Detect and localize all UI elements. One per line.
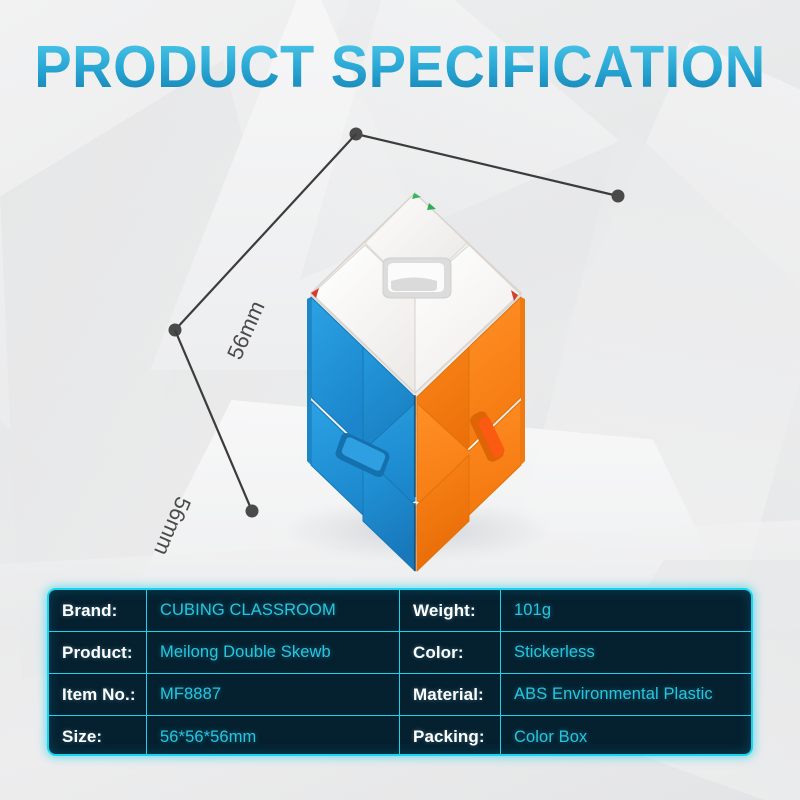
spec-label-product: Product: — [49, 632, 147, 673]
spec-value-material: ABS Environmental Plastic — [501, 674, 751, 715]
spec-value-size: 56*56*56mm — [147, 716, 400, 756]
spec-value-color: Stickerless — [501, 632, 751, 673]
spec-value-packing: Color Box — [501, 716, 751, 756]
spec-value-weight: 101g — [501, 590, 751, 631]
table-row: Brand: CUBING CLASSROOM Weight: 101g — [49, 590, 751, 632]
spec-label-material: Material: — [400, 674, 501, 715]
table-row: Product: Meilong Double Skewb Color: Sti… — [49, 632, 751, 674]
spec-label-packing: Packing: — [400, 716, 501, 756]
spec-value-product: Meilong Double Skewb — [147, 632, 400, 673]
spec-label-color: Color: — [400, 632, 501, 673]
cube-product-photo — [215, 165, 615, 585]
spec-label-size: Size: — [49, 716, 147, 756]
spec-label-weight: Weight: — [400, 590, 501, 631]
spec-label-item-no: Item No.: — [49, 674, 147, 715]
page-title: PRODUCT SPECIFICATION — [20, 38, 780, 97]
table-row: Item No.: MF8887 Material: ABS Environme… — [49, 674, 751, 716]
spec-value-brand: CUBING CLASSROOM — [147, 590, 400, 631]
product-image-stage: 56mm 56mm 56mm — [0, 110, 800, 580]
cube-top-logo-recess — [383, 258, 451, 298]
spec-label-brand: Brand: — [49, 590, 147, 631]
product-specification-page: PRODUCT SPECIFICATION 56mm 56mm 56mm — [0, 0, 800, 800]
spec-value-item-no: MF8887 — [147, 674, 400, 715]
cube-illustration — [215, 165, 615, 585]
specification-table: Brand: CUBING CLASSROOM Weight: 101g Pro… — [47, 588, 753, 756]
table-row: Size: 56*56*56mm Packing: Color Box — [49, 716, 751, 756]
